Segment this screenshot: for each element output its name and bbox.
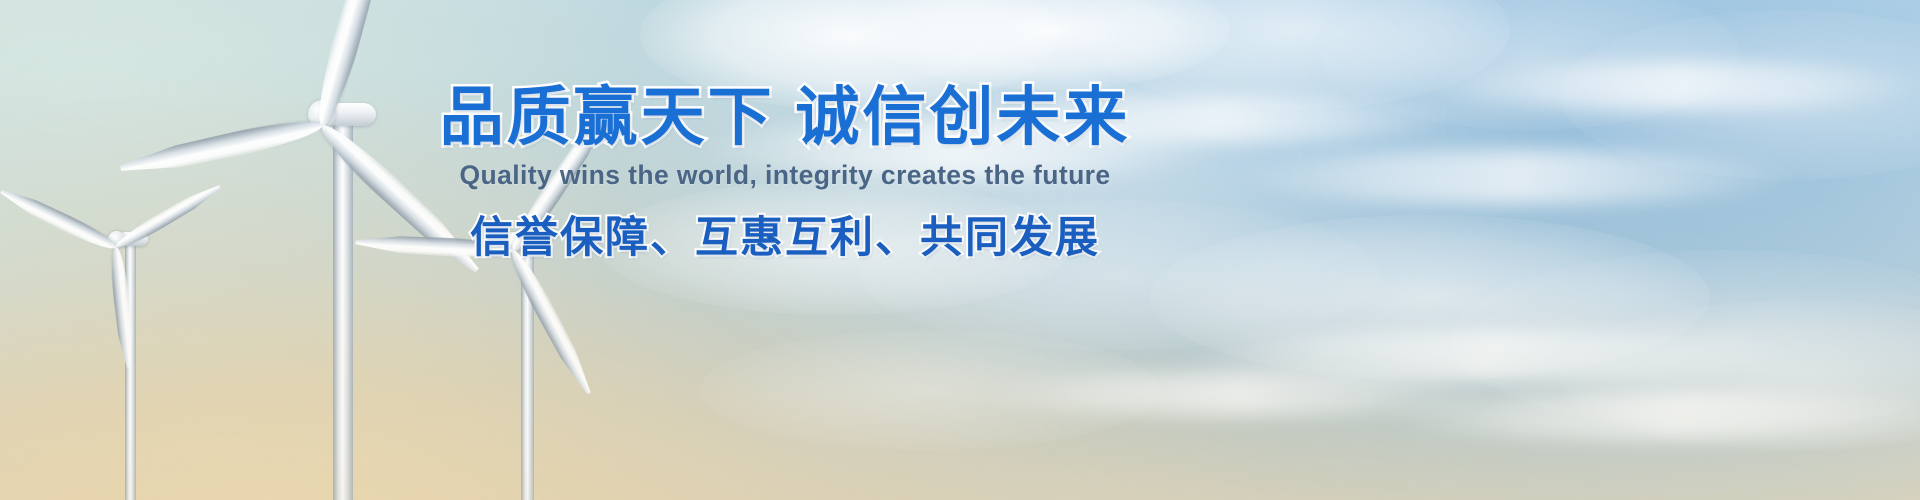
wind-turbine xyxy=(400,0,820,500)
turbine-tower xyxy=(333,112,353,500)
promo-banner: 品质赢天下 诚信创未来 Quality wins the world, inte… xyxy=(0,0,1920,500)
turbine-blade xyxy=(0,184,120,255)
turbine-blade xyxy=(505,106,616,256)
turbine-blade xyxy=(505,246,598,398)
